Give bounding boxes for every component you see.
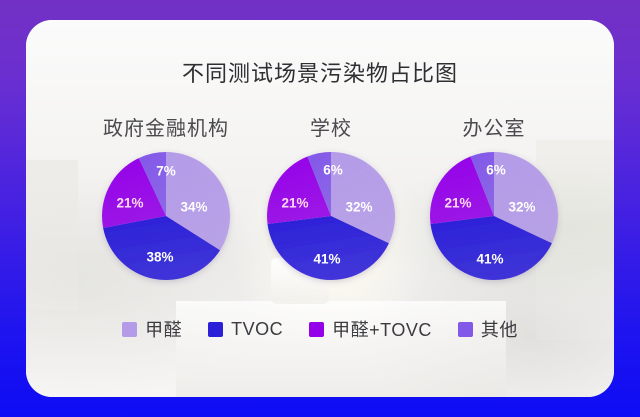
- pie-group-label-2: 学校: [310, 112, 352, 141]
- pie-group-label-1: 政府金融机构: [103, 112, 229, 141]
- pie-slice-value-label: 7%: [156, 164, 176, 179]
- legend-label: TVOC: [231, 319, 283, 340]
- pie-slice-value-label: 21%: [116, 196, 143, 211]
- poster-frame: 不同测试场景污染物占比图 政府金融机构34%38%21%7%学校32%41%21…: [0, 0, 640, 417]
- legend-label: 其他: [481, 316, 518, 342]
- legend-item-4[interactable]: 其他: [458, 316, 518, 342]
- legend-swatch-icon: [458, 322, 473, 337]
- page-title: 不同测试场景污染物占比图: [26, 56, 614, 88]
- pie-slice-value-label: 38%: [146, 250, 173, 265]
- content-card: 不同测试场景污染物占比图 政府金融机构34%38%21%7%学校32%41%21…: [26, 20, 614, 397]
- legend: 甲醛TVOC甲醛+TOVC其他: [26, 316, 614, 342]
- pie-chart-1: 34%38%21%7%: [102, 152, 230, 280]
- pie-slice-value-label: 32%: [345, 200, 372, 215]
- chart-content: 不同测试场景污染物占比图 政府金融机构34%38%21%7%学校32%41%21…: [26, 20, 614, 397]
- legend-label: 甲醛: [145, 316, 182, 342]
- legend-swatch-icon: [309, 322, 324, 337]
- pie-chart-2: 32%41%21%6%: [267, 152, 395, 280]
- pie-slice-value-label: 32%: [508, 200, 535, 215]
- legend-label: 甲醛+TOVC: [332, 316, 432, 342]
- legend-item-2[interactable]: TVOC: [208, 319, 283, 340]
- pie-group-label-3: 办公室: [463, 112, 526, 141]
- pie-slice-value-label: 41%: [313, 252, 340, 267]
- pie-slice-value-label: 6%: [323, 163, 343, 178]
- pie-slice-value-label: 34%: [180, 200, 207, 215]
- pie-chart-3: 32%41%21%6%: [430, 152, 558, 280]
- pie-slice-value-label: 21%: [444, 196, 471, 211]
- legend-item-3[interactable]: 甲醛+TOVC: [309, 316, 432, 342]
- legend-swatch-icon: [208, 322, 223, 337]
- legend-swatch-icon: [122, 322, 137, 337]
- pie-slice-value-label: 21%: [281, 196, 308, 211]
- legend-item-1[interactable]: 甲醛: [122, 316, 182, 342]
- pie-slice-value-label: 6%: [486, 163, 506, 178]
- pie-slice-value-label: 41%: [476, 252, 503, 267]
